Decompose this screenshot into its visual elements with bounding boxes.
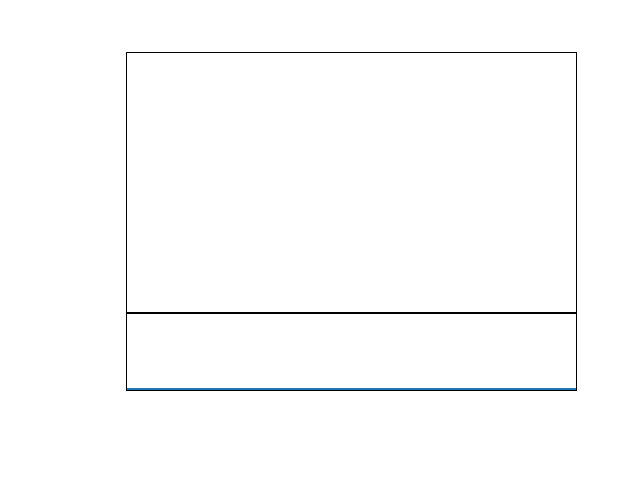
matplotlib-figure xyxy=(0,0,640,480)
histogram-axes xyxy=(126,313,577,391)
histogram-baseline xyxy=(127,388,576,390)
scatter-plot-axes xyxy=(126,52,577,313)
